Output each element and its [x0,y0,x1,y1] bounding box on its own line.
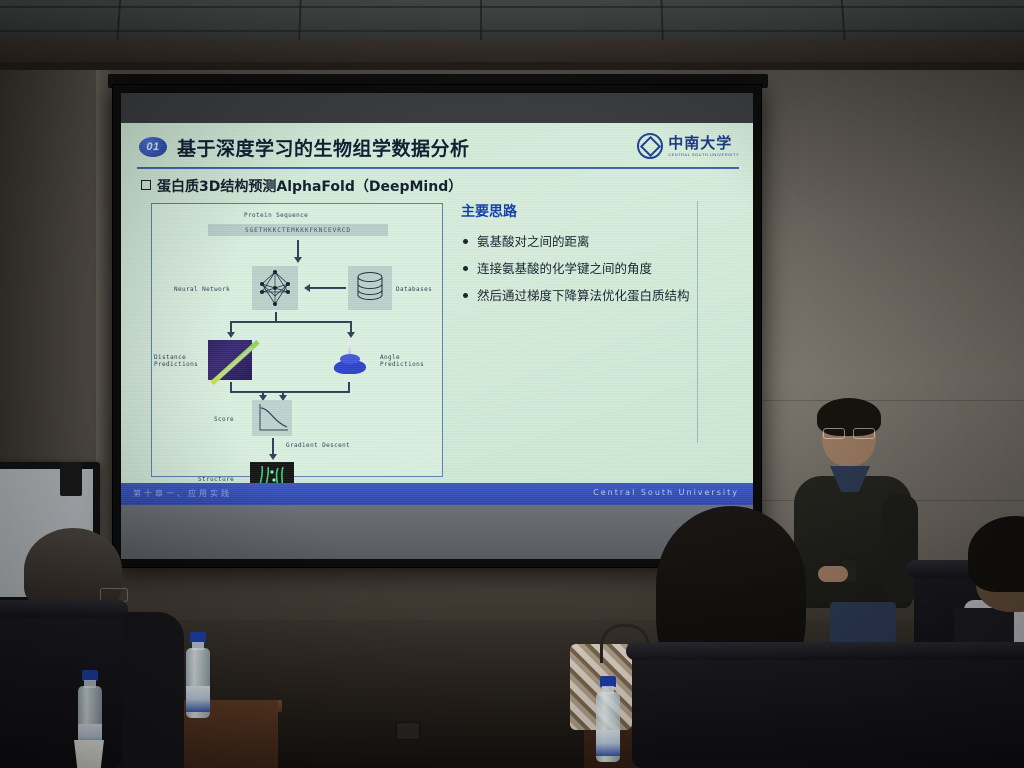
label-protein-sequence: Protein Sequence [244,212,308,219]
projection-screen: 01 基于深度学习的生物组学数据分析 中南大学 CENTRAL SOUTH UN… [112,84,762,568]
score-chart-icon [252,400,292,436]
letterbox-top [121,93,753,123]
presenter-arm [882,494,918,604]
decay-curve-icon [252,400,292,436]
label-gradient-descent: Gradient Descent [286,442,350,449]
logo-english-name: CENTRAL SOUTH UNIVERSITY [668,153,739,157]
chair-headrest [0,600,128,618]
bottle-label [186,686,210,712]
water-bottle [186,632,212,724]
alphafold-pipeline-diagram: Protein Sequence SGETHKKCTEMKKKFKNCEVRCD… [151,203,443,477]
paper-cup [72,740,106,768]
list-item: 连接氨基酸的化学键之间的角度 [461,260,699,278]
distance-prediction-image [208,340,252,380]
neural-network-icon [252,266,298,310]
slide-subtitle: 蛋白质3D结构预测AlphaFold（DeepMind） [141,176,462,196]
presentation-slide: 01 基于深度学习的生物组学数据分析 中南大学 CENTRAL SOUTH UN… [121,123,753,505]
bottle-label [596,730,620,756]
list-item: 氨基酸对之间的距离 [461,233,699,251]
database-cylinder-icon [348,266,392,310]
bottle-body [596,692,620,762]
university-logo: 中南大学 CENTRAL SOUTH UNIVERSITY [637,133,739,159]
label-neural-network: Neural Network [174,286,230,293]
footer-left-text: 第十章一、应用实践 [133,488,232,499]
chair-headrest [626,642,1024,660]
whiteboard-tray [60,462,82,496]
network-graph-icon [252,266,298,310]
logo-chinese-name: 中南大学 [668,136,739,151]
audience-right-hair [968,516,1024,592]
water-bottle [596,676,622,768]
bullet-square-icon [141,180,151,190]
wall-socket [396,722,420,740]
label-score: Score [214,416,234,423]
label-distance-predictions: Distance Predictions [154,354,198,368]
databases-icon [348,266,392,310]
slide-number-badge: 01 [139,137,167,157]
list-item: 然后通过梯度下降算法优化蛋白质结构 [461,287,699,305]
university-emblem-icon [637,133,663,159]
slide-header: 01 基于深度学习的生物组学数据分析 中南大学 CENTRAL SOUTH UN… [139,131,739,165]
panel-divider [697,201,698,443]
chair [632,650,1024,768]
header-divider [137,167,739,169]
angle-prediction-image [328,342,372,380]
key-ideas-panel: 主要思路 氨基酸对之间的距离 连接氨基酸的化学键之间的角度 然后通过梯度下降算法… [461,201,699,314]
slide-footer: 第十章一、应用实践 Central South University [121,483,753,505]
bottle-body [186,648,210,718]
label-structure: Structure [198,476,234,483]
footer-right-text: Central South University [593,488,739,497]
protein-sequence-box: SGETHKKCTEMKKKFKNCEVRCD [208,224,388,236]
key-ideas-heading: 主要思路 [461,201,699,221]
lecture-hall-photo: 01 基于深度学习的生物组学数据分析 中南大学 CENTRAL SOUTH UN… [0,0,1024,768]
glasses-icon [823,428,875,437]
page-title: 基于深度学习的生物组学数据分析 [177,134,470,161]
label-angle-predictions: Angle Predictions [380,354,424,368]
key-ideas-list: 氨基酸对之间的距离 连接氨基酸的化学键之间的角度 然后通过梯度下降算法优化蛋白质… [461,233,699,305]
label-databases: Databases [396,286,432,293]
